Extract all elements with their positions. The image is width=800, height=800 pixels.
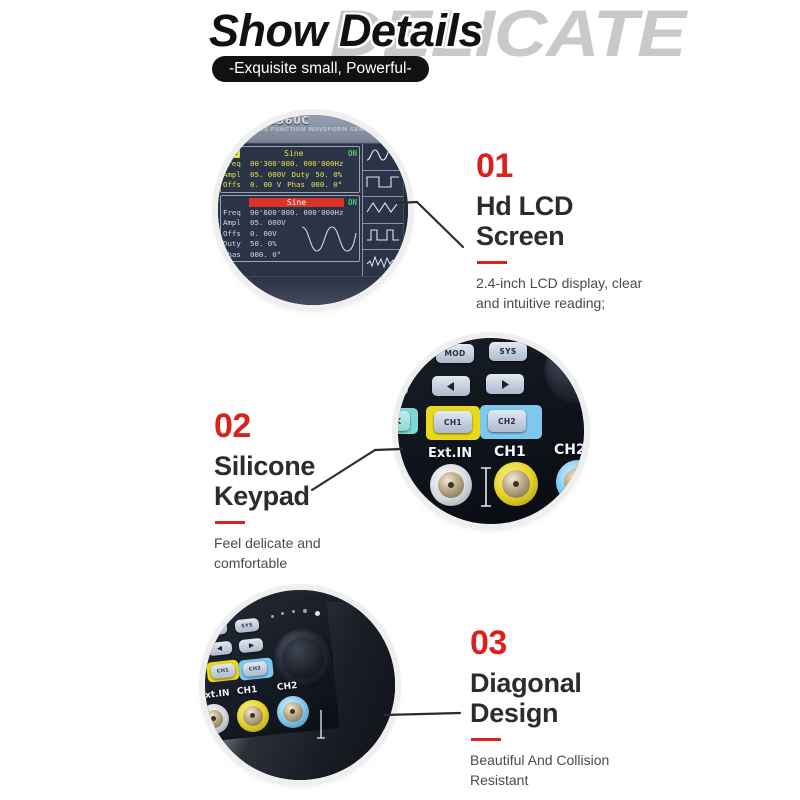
device-bezel: ET3360C DDS FUNCTION WAVEFORM GENERATOR … bbox=[218, 115, 408, 305]
param-label: Offs bbox=[223, 180, 250, 191]
channel1-tag: CH1 bbox=[223, 149, 240, 158]
ground-symbol-icon bbox=[315, 710, 327, 744]
channel1-waveform: Sine bbox=[240, 149, 348, 158]
photo-silicone-keypad: MOD SYS S OK CH1 CH2 bbox=[398, 338, 584, 524]
port-label-ext-in: Ext.IN bbox=[428, 446, 472, 461]
feature-title-line1: Diagonal bbox=[470, 668, 670, 698]
feature-divider bbox=[215, 521, 245, 524]
button-arrow-left bbox=[432, 376, 470, 396]
bnc-connector-ext-in bbox=[430, 464, 472, 506]
param-value: 50. 0% bbox=[250, 239, 277, 250]
button-ok: OK bbox=[398, 411, 410, 431]
bnc-connector-ch1 bbox=[237, 700, 269, 732]
port-label-ch1: CH1 bbox=[494, 444, 526, 460]
param-label: Freq bbox=[223, 159, 250, 170]
bnc-core bbox=[564, 468, 584, 496]
param-value: 00'300'000. 000'000Hz bbox=[250, 159, 343, 170]
button-left-partial: S bbox=[398, 376, 408, 395]
feature-block-01: 01 Hd LCD Screen 2.4-inch LCD display, c… bbox=[476, 148, 646, 313]
feature-title-line2: Design bbox=[470, 698, 670, 728]
sine-wave-preview bbox=[301, 219, 357, 259]
channel2-waveform: Sine bbox=[249, 198, 344, 207]
feature-title-line1: Silicone bbox=[214, 451, 394, 481]
arrow-right-icon bbox=[499, 379, 511, 390]
param-label: Duty bbox=[223, 239, 250, 250]
param-value: 000. 0° bbox=[250, 250, 281, 261]
button-ch1: CH1 bbox=[434, 411, 472, 433]
feature-block-02: 02 Silicone Keypad Feel delicate and com… bbox=[214, 408, 394, 573]
button-arrow-right bbox=[238, 638, 263, 653]
button-sys: SYS bbox=[234, 618, 259, 633]
button-arrow-right bbox=[486, 374, 524, 394]
feature-block-03: 03 Diagonal Design Beautiful And Collisi… bbox=[470, 625, 670, 790]
param-label: Ampl bbox=[223, 170, 250, 181]
lcd-channel2-block: Sine ON Freq 00'600'000. 000'000Hz Ampl … bbox=[220, 195, 360, 263]
bnc-pin bbox=[290, 709, 295, 714]
button-ch2: CH2 bbox=[488, 410, 526, 432]
param-value: 0. 00V bbox=[250, 229, 277, 240]
feature-divider bbox=[471, 738, 501, 741]
bnc-pin bbox=[575, 479, 581, 485]
lcd-channel1-block: CH1 Sine ON Freq 00'300'000. 000'000Hz A… bbox=[220, 146, 360, 193]
bnc-connector-ch2 bbox=[277, 696, 309, 728]
feature-title-line2: Keypad bbox=[214, 481, 394, 511]
feature-description: Beautiful And Collision Resistant bbox=[470, 750, 670, 790]
channel2-state: ON bbox=[348, 198, 357, 207]
channel1-state: ON bbox=[348, 149, 357, 158]
diagonal-scene: MOD SYS FAQ OK CH1 CH2 bbox=[205, 590, 395, 780]
knob-indicator-dots bbox=[271, 608, 331, 622]
rotary-knob bbox=[273, 628, 333, 688]
param-value: 0. 00 V bbox=[250, 180, 281, 191]
feature-divider bbox=[477, 261, 507, 264]
port-label-ch2: CH2 bbox=[554, 442, 584, 458]
bnc-connector-ch2 bbox=[556, 460, 584, 504]
param-label: Duty bbox=[292, 170, 310, 181]
param-value: 05. 000V bbox=[250, 170, 286, 181]
param-label: Phas bbox=[287, 180, 305, 191]
bnc-pin bbox=[513, 481, 519, 487]
lcd-display: CH1 Sine ON Freq 00'300'000. 000'000Hz A… bbox=[218, 143, 404, 277]
feature-description: 2.4-inch LCD display, clear and intuitiv… bbox=[476, 273, 646, 313]
bnc-pin bbox=[250, 713, 255, 718]
param-label: Phas bbox=[223, 250, 250, 261]
device-lower-panel bbox=[218, 277, 408, 305]
leader-line-03 bbox=[382, 700, 472, 730]
feature-number: 02 bbox=[214, 408, 394, 444]
feature-title-line1: Hd LCD bbox=[476, 191, 646, 221]
button-ch2: CH2 bbox=[242, 661, 267, 677]
port-label-ch2: CH2 bbox=[277, 681, 298, 693]
lcd-param-row: Offs 0. 00 V Phas 000. 0° bbox=[223, 180, 357, 191]
param-label: Offs bbox=[223, 229, 250, 240]
header: DELICATE Show Details -Exquisite small, … bbox=[0, 0, 800, 105]
triangle-icon bbox=[232, 127, 250, 138]
param-value: 05. 000V bbox=[250, 218, 286, 229]
arrow-left-icon bbox=[216, 645, 225, 653]
bnc-pin bbox=[448, 482, 454, 488]
port-label-ch1: CH1 bbox=[237, 685, 258, 697]
param-label: Freq bbox=[223, 208, 250, 219]
photo-diagonal-design: MOD SYS FAQ OK CH1 CH2 bbox=[205, 590, 395, 780]
bnc-pin bbox=[211, 716, 216, 721]
button-ch1: CH1 bbox=[210, 663, 235, 679]
photo-lcd-screen: ET3360C DDS FUNCTION WAVEFORM GENERATOR … bbox=[218, 115, 408, 305]
arrow-left-icon bbox=[445, 381, 457, 392]
feature-number: 01 bbox=[476, 148, 646, 184]
sine-icon bbox=[363, 144, 403, 171]
lcd-param-row: Ampl 05. 000V Duty 50. 0% bbox=[223, 170, 357, 181]
button-arrow-left bbox=[207, 641, 232, 656]
subtitle-badge: -Exquisite small, Powerful- bbox=[212, 56, 429, 82]
param-value: 000. 0° bbox=[311, 180, 342, 191]
device-model-label: ET3360C bbox=[252, 115, 310, 127]
device-subtitle-label: DDS FUNCTION WAVEFORM GENERATOR bbox=[254, 127, 391, 133]
rotary-knob bbox=[544, 338, 584, 406]
feature-title-line2: Screen bbox=[476, 221, 646, 251]
param-label: Ampl bbox=[223, 218, 250, 229]
feature-number: 03 bbox=[470, 625, 670, 661]
page-title: Show Details bbox=[209, 6, 483, 56]
button-sys: SYS bbox=[489, 342, 527, 361]
lcd-param-row: Freq 00'300'000. 000'000Hz bbox=[223, 159, 357, 170]
keypad-panel: MOD SYS S OK CH1 CH2 bbox=[398, 338, 584, 524]
leader-line-01 bbox=[395, 190, 485, 260]
feature-description: Feel delicate and comfortable bbox=[214, 533, 394, 573]
ground-symbol-icon bbox=[478, 466, 494, 512]
infographic-page: DELICATE Show Details -Exquisite small, … bbox=[0, 0, 800, 800]
param-value: 00'600'000. 000'000Hz bbox=[250, 208, 343, 219]
param-value: 50. 0% bbox=[315, 170, 342, 181]
arrow-right-icon bbox=[247, 642, 256, 650]
bnc-connector-ch1 bbox=[494, 462, 538, 506]
lcd-param-row: Freq 00'600'000. 000'000Hz bbox=[223, 208, 357, 219]
button-mod: MOD bbox=[436, 344, 474, 363]
